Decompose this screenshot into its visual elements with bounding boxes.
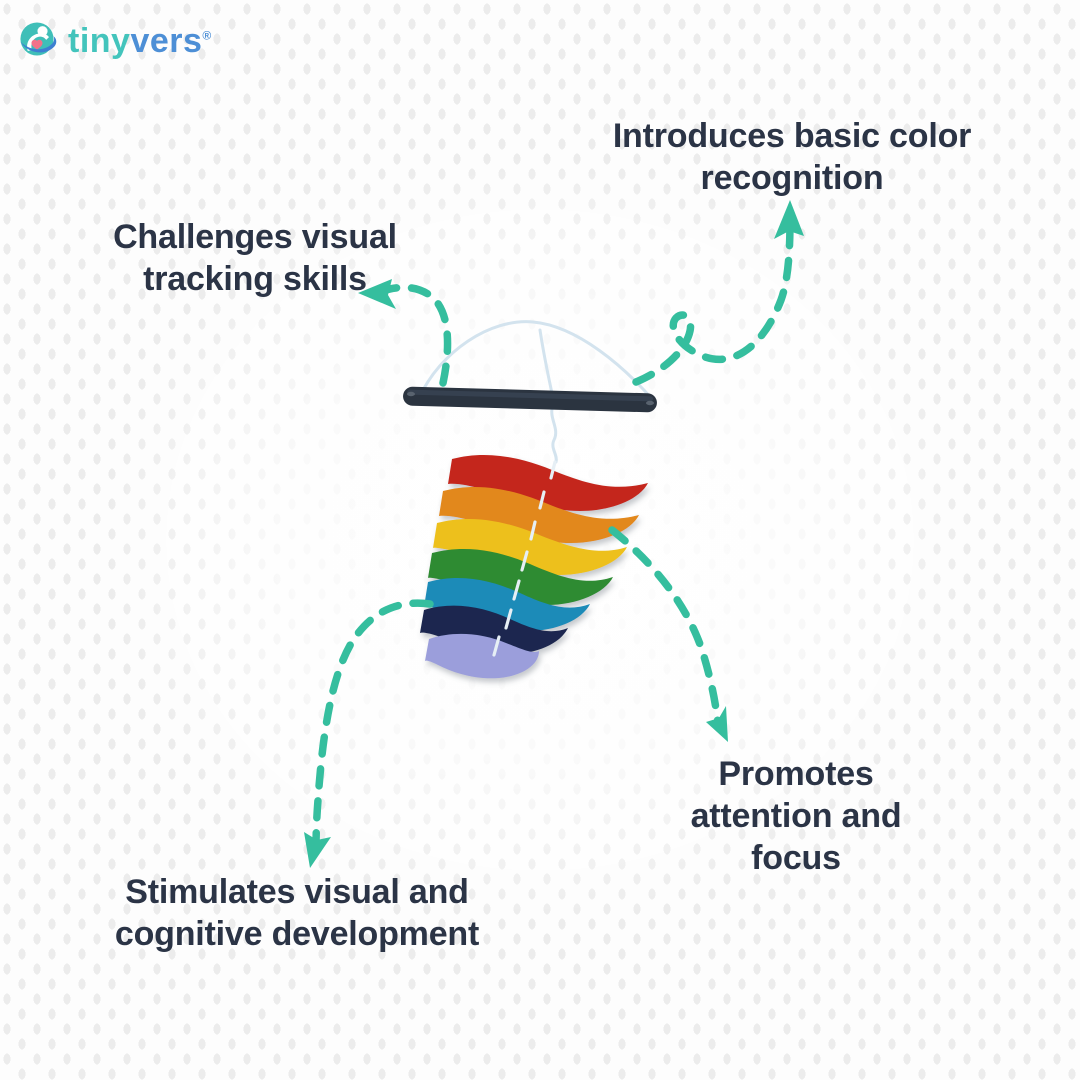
brand-name-part2: vers: [130, 22, 202, 60]
brand-name-part1: tiny: [68, 22, 130, 60]
registered-trademark-mark: ®: [202, 29, 211, 43]
caption-challenges-visual-tracking: Challenges visual tracking skills: [92, 216, 418, 300]
curved-down-left-arrow-path: [316, 603, 430, 852]
caption-introduces-color-recognition: Introduces basic color recognition: [596, 115, 988, 199]
brand-wordmark: tinyvers®: [68, 24, 212, 58]
infographic-canvas: tinyvers®: [0, 0, 1080, 1080]
curved-loop-up-right-arrow-path: [636, 218, 790, 382]
curved-down-right-arrow-path: [612, 530, 718, 724]
arrowhead-down-right: [706, 706, 728, 742]
caption-stimulates-development: Stimulates visual and cognitive developm…: [94, 871, 500, 955]
tinyvers-circle-heart-logo-icon: [14, 16, 60, 62]
caption-promotes-attention-focus: Promotes attention and focus: [660, 753, 932, 879]
brand-logo[interactable]: tinyvers®: [14, 16, 212, 62]
